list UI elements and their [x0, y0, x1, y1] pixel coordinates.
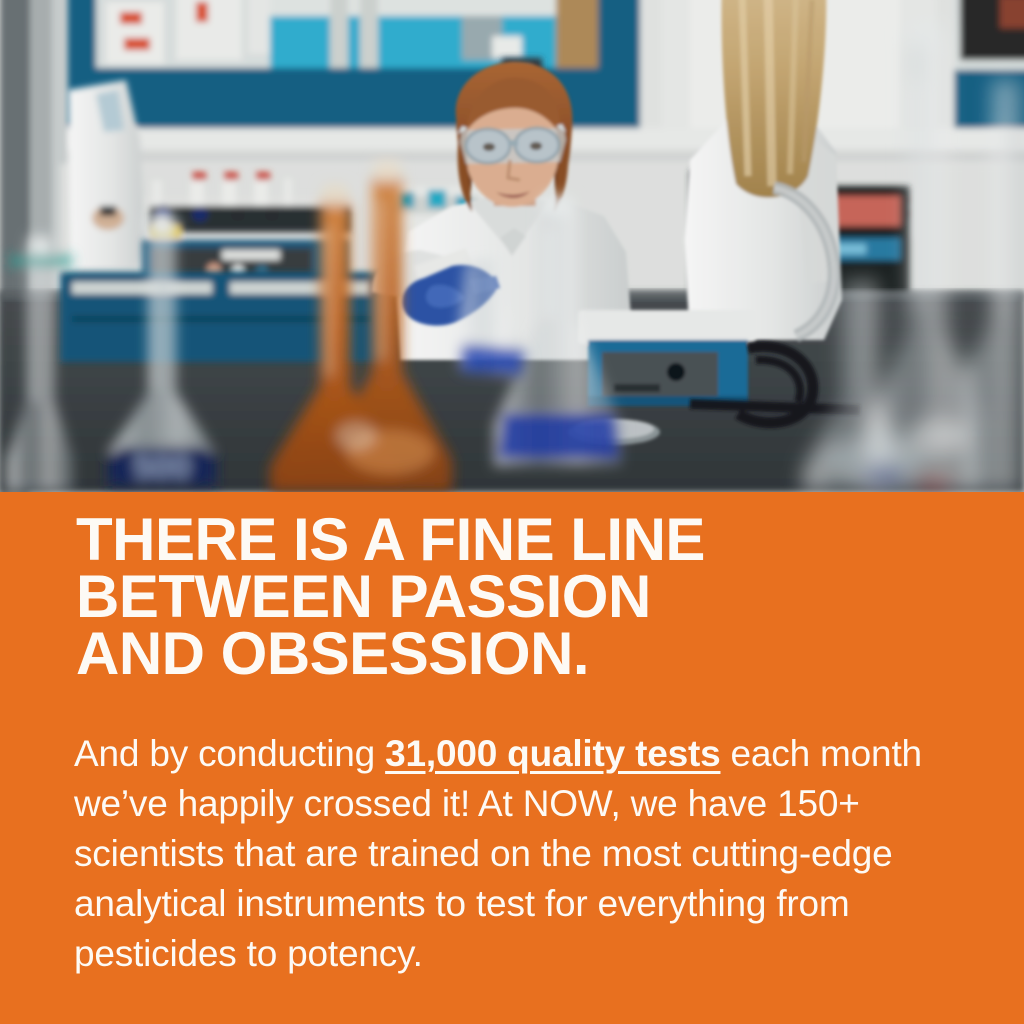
- body-text-part-1: And by conducting: [74, 733, 385, 774]
- headline-line-3: AND OBSESSION.: [76, 625, 956, 682]
- orange-text-panel: THERE IS A FINE LINE BETWEEN PASSION AND…: [0, 492, 1024, 1024]
- lab-photo-illustration: 500: [0, 0, 1024, 492]
- lab-photo: 500: [0, 0, 1024, 492]
- page-title: THERE IS A FINE LINE BETWEEN PASSION AND…: [76, 511, 956, 682]
- quality-tests-emphasis: 31,000 quality tests: [385, 733, 720, 774]
- promo-graphic: 500: [0, 0, 1024, 1024]
- headline-line-1: THERE IS A FINE LINE: [76, 511, 956, 568]
- headline-line-2: BETWEEN PASSION: [76, 568, 956, 625]
- body-paragraph: And by conducting 31,000 quality tests e…: [74, 729, 932, 979]
